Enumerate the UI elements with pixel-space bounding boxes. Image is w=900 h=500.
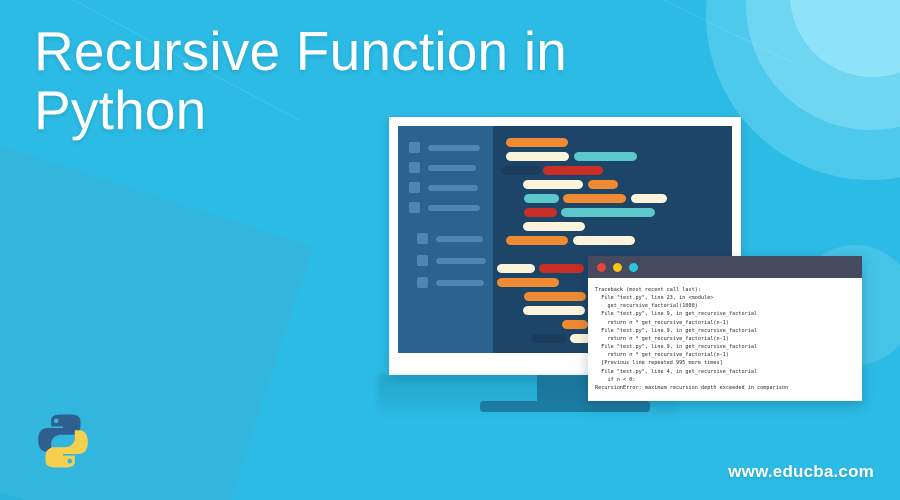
code-token-red (543, 166, 603, 175)
code-line (493, 236, 732, 245)
code-line (493, 166, 732, 175)
sidebar-item-icon (409, 202, 420, 213)
code-token-teal (574, 152, 637, 161)
sidebar-item-label-bar (436, 236, 483, 242)
sidebar-item-icon (417, 255, 428, 266)
code-token-dark (531, 334, 567, 343)
code-line (493, 222, 732, 231)
code-line (493, 180, 732, 189)
sidebar-item-label-bar (436, 280, 484, 286)
python-logo-icon (32, 410, 94, 472)
sidebar-item-label-bar (428, 145, 480, 151)
terminal-traceback-text: Traceback (most recent call last): File … (588, 278, 862, 401)
code-line (493, 208, 732, 217)
sidebar-item-icon (409, 142, 420, 153)
code-line (493, 152, 732, 161)
close-dot[interactable] (597, 263, 606, 272)
code-token-orange (506, 236, 568, 245)
code-line (493, 138, 732, 147)
sidebar-item-icon (417, 277, 428, 288)
sidebar-item-label-bar (436, 258, 486, 264)
sidebar-item[interactable] (398, 142, 493, 153)
code-token-red (539, 264, 584, 273)
terminal-titlebar (588, 256, 862, 278)
code-token-cream (573, 236, 635, 245)
terminal-window: Traceback (most recent call last): File … (588, 256, 862, 401)
code-line (493, 194, 732, 203)
code-token-cream (631, 194, 667, 203)
code-token-red (524, 208, 557, 217)
sidebar-item-label-bar (428, 165, 476, 171)
sidebar-item[interactable] (398, 233, 493, 244)
sidebar-item[interactable] (398, 182, 493, 193)
code-token-cream (523, 222, 585, 231)
sidebar-item[interactable] (398, 162, 493, 173)
code-token-cream (523, 180, 583, 189)
sidebar-group-gap (398, 222, 493, 233)
code-token-cream (506, 152, 569, 161)
code-token-orange (524, 292, 586, 301)
sidebar-item-label-bar (428, 205, 480, 211)
sidebar-item-icon (417, 233, 428, 244)
code-token-teal (561, 208, 655, 217)
code-token-teal (524, 194, 559, 203)
code-token-orange (562, 320, 588, 329)
maximize-dot[interactable] (629, 263, 638, 272)
sidebar-item[interactable] (398, 277, 493, 288)
sidebar-item-icon (409, 162, 420, 173)
editor-sidebar (398, 126, 493, 353)
code-token-orange (563, 194, 626, 203)
sidebar-item-label-bar (428, 185, 478, 191)
sidebar-item[interactable] (398, 255, 493, 266)
code-token-orange (497, 278, 559, 287)
sidebar-item-icon (409, 182, 420, 193)
code-token-cream (523, 306, 585, 315)
code-token-orange (506, 138, 568, 147)
code-token-cream (497, 264, 535, 273)
minimize-dot[interactable] (613, 263, 622, 272)
website-url: www.educba.com (728, 462, 874, 482)
code-token-dark (501, 166, 541, 175)
sidebar-item[interactable] (398, 202, 493, 213)
code-token-orange (588, 180, 618, 189)
